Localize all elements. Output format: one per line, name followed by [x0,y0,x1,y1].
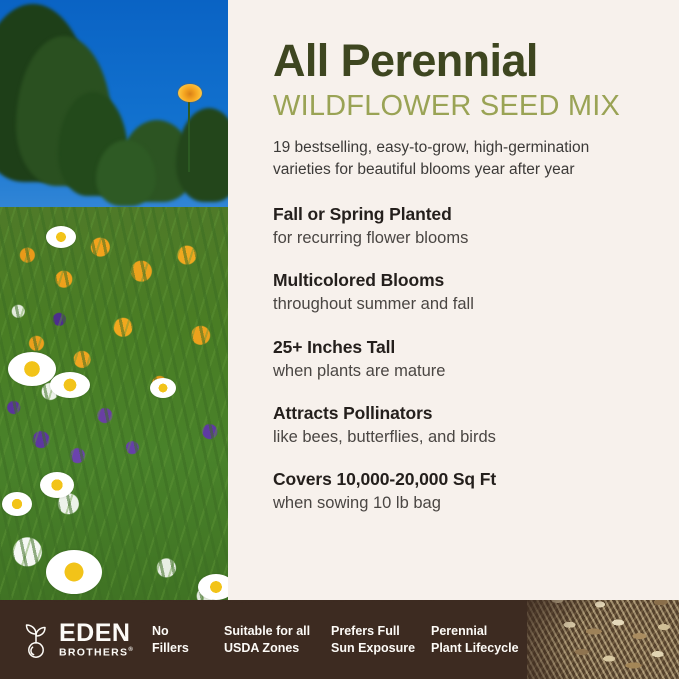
feature-item: Fall or Spring Planted for recurring flo… [273,204,649,249]
white-daisy [40,472,74,498]
wildflower-meadow-photo [0,0,228,608]
status-badge: Suitable for all USDA Zones [224,623,331,657]
brand-subname: BROTHERS® [59,647,134,658]
feature-title: Attracts Pollinators [273,403,649,425]
lede-line-1: 19 bestselling, easy-to-grow, high-germi… [273,137,649,158]
lede-line-2: varieties for beautiful blooms year afte… [273,159,649,180]
feature-subtitle: when sowing 10 lb bag [273,493,649,514]
feature-item: Attracts Pollinators like bees, butterfl… [273,403,649,448]
seed-sprout-icon [20,620,52,660]
feature-title: Covers 10,000-20,000 Sq Ft [273,469,649,491]
white-daisy [198,574,228,600]
feature-title: 25+ Inches Tall [273,337,649,359]
feature-subtitle: when plants are mature [273,361,649,382]
feature-item: Covers 10,000-20,000 Sq Ft when sowing 1… [273,469,649,514]
brand-wordmark: EDEN BROTHERS® [59,621,134,658]
badge-line-2: Sun Exposure [331,640,431,657]
status-badge: Prefers Full Sun Exposure [331,623,431,657]
badge-line-1: Prefers Full [331,623,431,640]
orange-flower [178,84,202,102]
brand-subname-text: BROTHERS [59,647,128,659]
brand-name: EDEN [59,621,134,646]
brand-logo[interactable]: EDEN BROTHERS® [20,620,152,660]
footer-content: EDEN BROTHERS® No Fillers Suitable for a… [0,600,679,679]
trademark-symbol: ® [128,647,134,653]
white-daisy [2,492,32,516]
lede-paragraph: 19 bestselling, easy-to-grow, high-germi… [273,137,649,180]
feature-item: Multicolored Blooms throughout summer an… [273,270,649,315]
footer-badge-list: No Fillers Suitable for all USDA Zones P… [152,623,679,657]
feature-subtitle: throughout summer and fall [273,294,649,315]
feature-title: Multicolored Blooms [273,270,649,292]
meadow-region [0,207,228,608]
badge-line-1: Perennial [431,623,551,640]
page-subtitle: WILDFLOWER SEED MIX [273,91,649,121]
badge-line-2: Plant Lifecycle [431,640,551,657]
white-daisy [46,226,76,248]
badge-line-2: USDA Zones [224,640,331,657]
feature-subtitle: like bees, butterflies, and birds [273,427,649,448]
feature-item: 25+ Inches Tall when plants are mature [273,337,649,382]
flower-stem [188,98,190,172]
white-daisy [46,550,102,594]
content-panel: All Perennial WILDFLOWER SEED MIX 19 bes… [228,0,679,608]
status-badge: No Fillers [152,623,224,657]
white-daisy [150,378,176,398]
feature-list: Fall or Spring Planted for recurring flo… [273,204,649,515]
badge-line-1: No [152,623,224,640]
badge-line-1: Suitable for all [224,623,331,640]
white-daisy [50,372,90,398]
feature-title: Fall or Spring Planted [273,204,649,226]
product-infographic: All Perennial WILDFLOWER SEED MIX 19 bes… [0,0,679,679]
feature-subtitle: for recurring flower blooms [273,228,649,249]
white-daisy [8,352,56,386]
badge-line-2: Fillers [152,640,224,657]
page-title: All Perennial [273,38,649,84]
status-badge: Perennial Plant Lifecycle [431,623,551,657]
footer-bar: EDEN BROTHERS® No Fillers Suitable for a… [0,600,679,679]
